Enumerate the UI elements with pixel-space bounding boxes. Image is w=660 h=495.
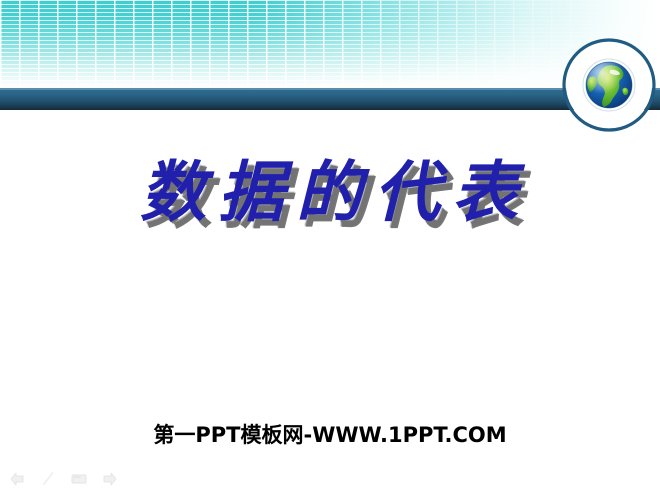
header-right-fade xyxy=(0,0,660,88)
back-arrow-icon[interactable] xyxy=(8,471,26,487)
slide-header-band xyxy=(0,0,660,88)
slideshow-nav-controls xyxy=(8,471,119,487)
navy-divider-bar xyxy=(0,88,660,110)
page-title: 数据的代表 xyxy=(130,158,530,227)
slide-icon[interactable] xyxy=(70,471,88,487)
presentation-slide: 数据的代表 第一PPT模板网-WWW.1PPT.COM xyxy=(0,0,660,495)
navy-bar-highlight xyxy=(0,88,660,90)
pen-icon[interactable] xyxy=(39,471,57,487)
footer-credit-text: 第一PPT模板网-WWW.1PPT.COM xyxy=(0,419,660,449)
forward-arrow-icon[interactable] xyxy=(101,471,119,487)
slide-title-container: 数据的代表 xyxy=(0,158,660,227)
globe-icon xyxy=(562,38,656,132)
